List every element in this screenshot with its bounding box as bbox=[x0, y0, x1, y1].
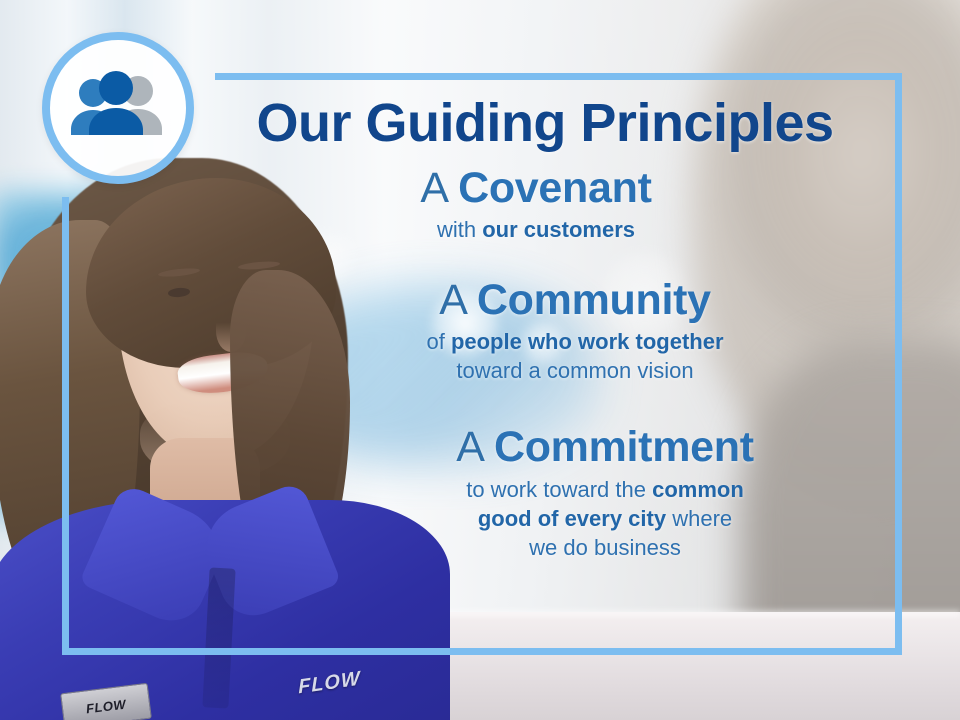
principle-commitment-sub-line-2-plain: where bbox=[666, 506, 732, 531]
principle-commitment-sub-line-1: to work toward the common bbox=[320, 475, 890, 504]
principle-commitment-sub-line-2-bold: good of every city bbox=[478, 506, 666, 531]
principle-commitment: A Commitment to work toward the common g… bbox=[200, 425, 890, 561]
frame-border-right bbox=[895, 73, 902, 655]
principle-covenant-keyword: Covenant bbox=[458, 164, 652, 212]
principle-commitment-subtext: to work toward the common good of every … bbox=[320, 475, 890, 562]
principle-community-sub-plain: of bbox=[426, 329, 450, 354]
principle-covenant-sub-bold: our customers bbox=[482, 217, 635, 242]
principle-community-article: A bbox=[439, 276, 465, 324]
principle-covenant-article: A bbox=[420, 164, 446, 212]
principles-content: Our Guiding Principles A Covenant with o… bbox=[200, 78, 890, 562]
principle-covenant: A Covenant with our customers bbox=[200, 166, 890, 244]
principle-community-heading: A Community bbox=[260, 278, 890, 323]
principle-community-keyword: Community bbox=[477, 276, 711, 324]
principle-covenant-subtext: with our customers bbox=[200, 215, 872, 244]
frame-border-bottom bbox=[62, 648, 902, 655]
people-group-icon bbox=[66, 71, 170, 145]
principle-commitment-keyword: Commitment bbox=[494, 423, 754, 471]
poster-root: FLOW FLOW Our Guiding Principl bbox=[0, 0, 960, 720]
principle-community-subtext: of people who work together toward a com… bbox=[260, 327, 890, 385]
principle-covenant-heading: A Covenant bbox=[200, 166, 872, 211]
frame-border-left bbox=[62, 197, 69, 655]
principle-commitment-heading: A Commitment bbox=[320, 425, 890, 470]
principle-community-sub-bold: people who work together bbox=[451, 329, 724, 354]
principle-community-sub-line-1: of people who work together bbox=[260, 327, 890, 356]
principle-commitment-sub-line-2: good of every city where bbox=[320, 504, 890, 533]
principle-commitment-sub-plain: to work toward the bbox=[466, 477, 652, 502]
principle-commitment-sub-line-3: we do business bbox=[320, 533, 890, 562]
principle-community-sub-line-2: toward a common vision bbox=[260, 356, 890, 385]
principle-commitment-sub-bold: common bbox=[652, 477, 744, 502]
principle-covenant-sub-plain: with bbox=[437, 217, 482, 242]
principle-community: A Community of people who work together … bbox=[200, 278, 890, 385]
people-group-badge bbox=[42, 32, 194, 184]
page-title: Our Guiding Principles bbox=[200, 96, 890, 150]
principle-commitment-article: A bbox=[456, 423, 482, 471]
